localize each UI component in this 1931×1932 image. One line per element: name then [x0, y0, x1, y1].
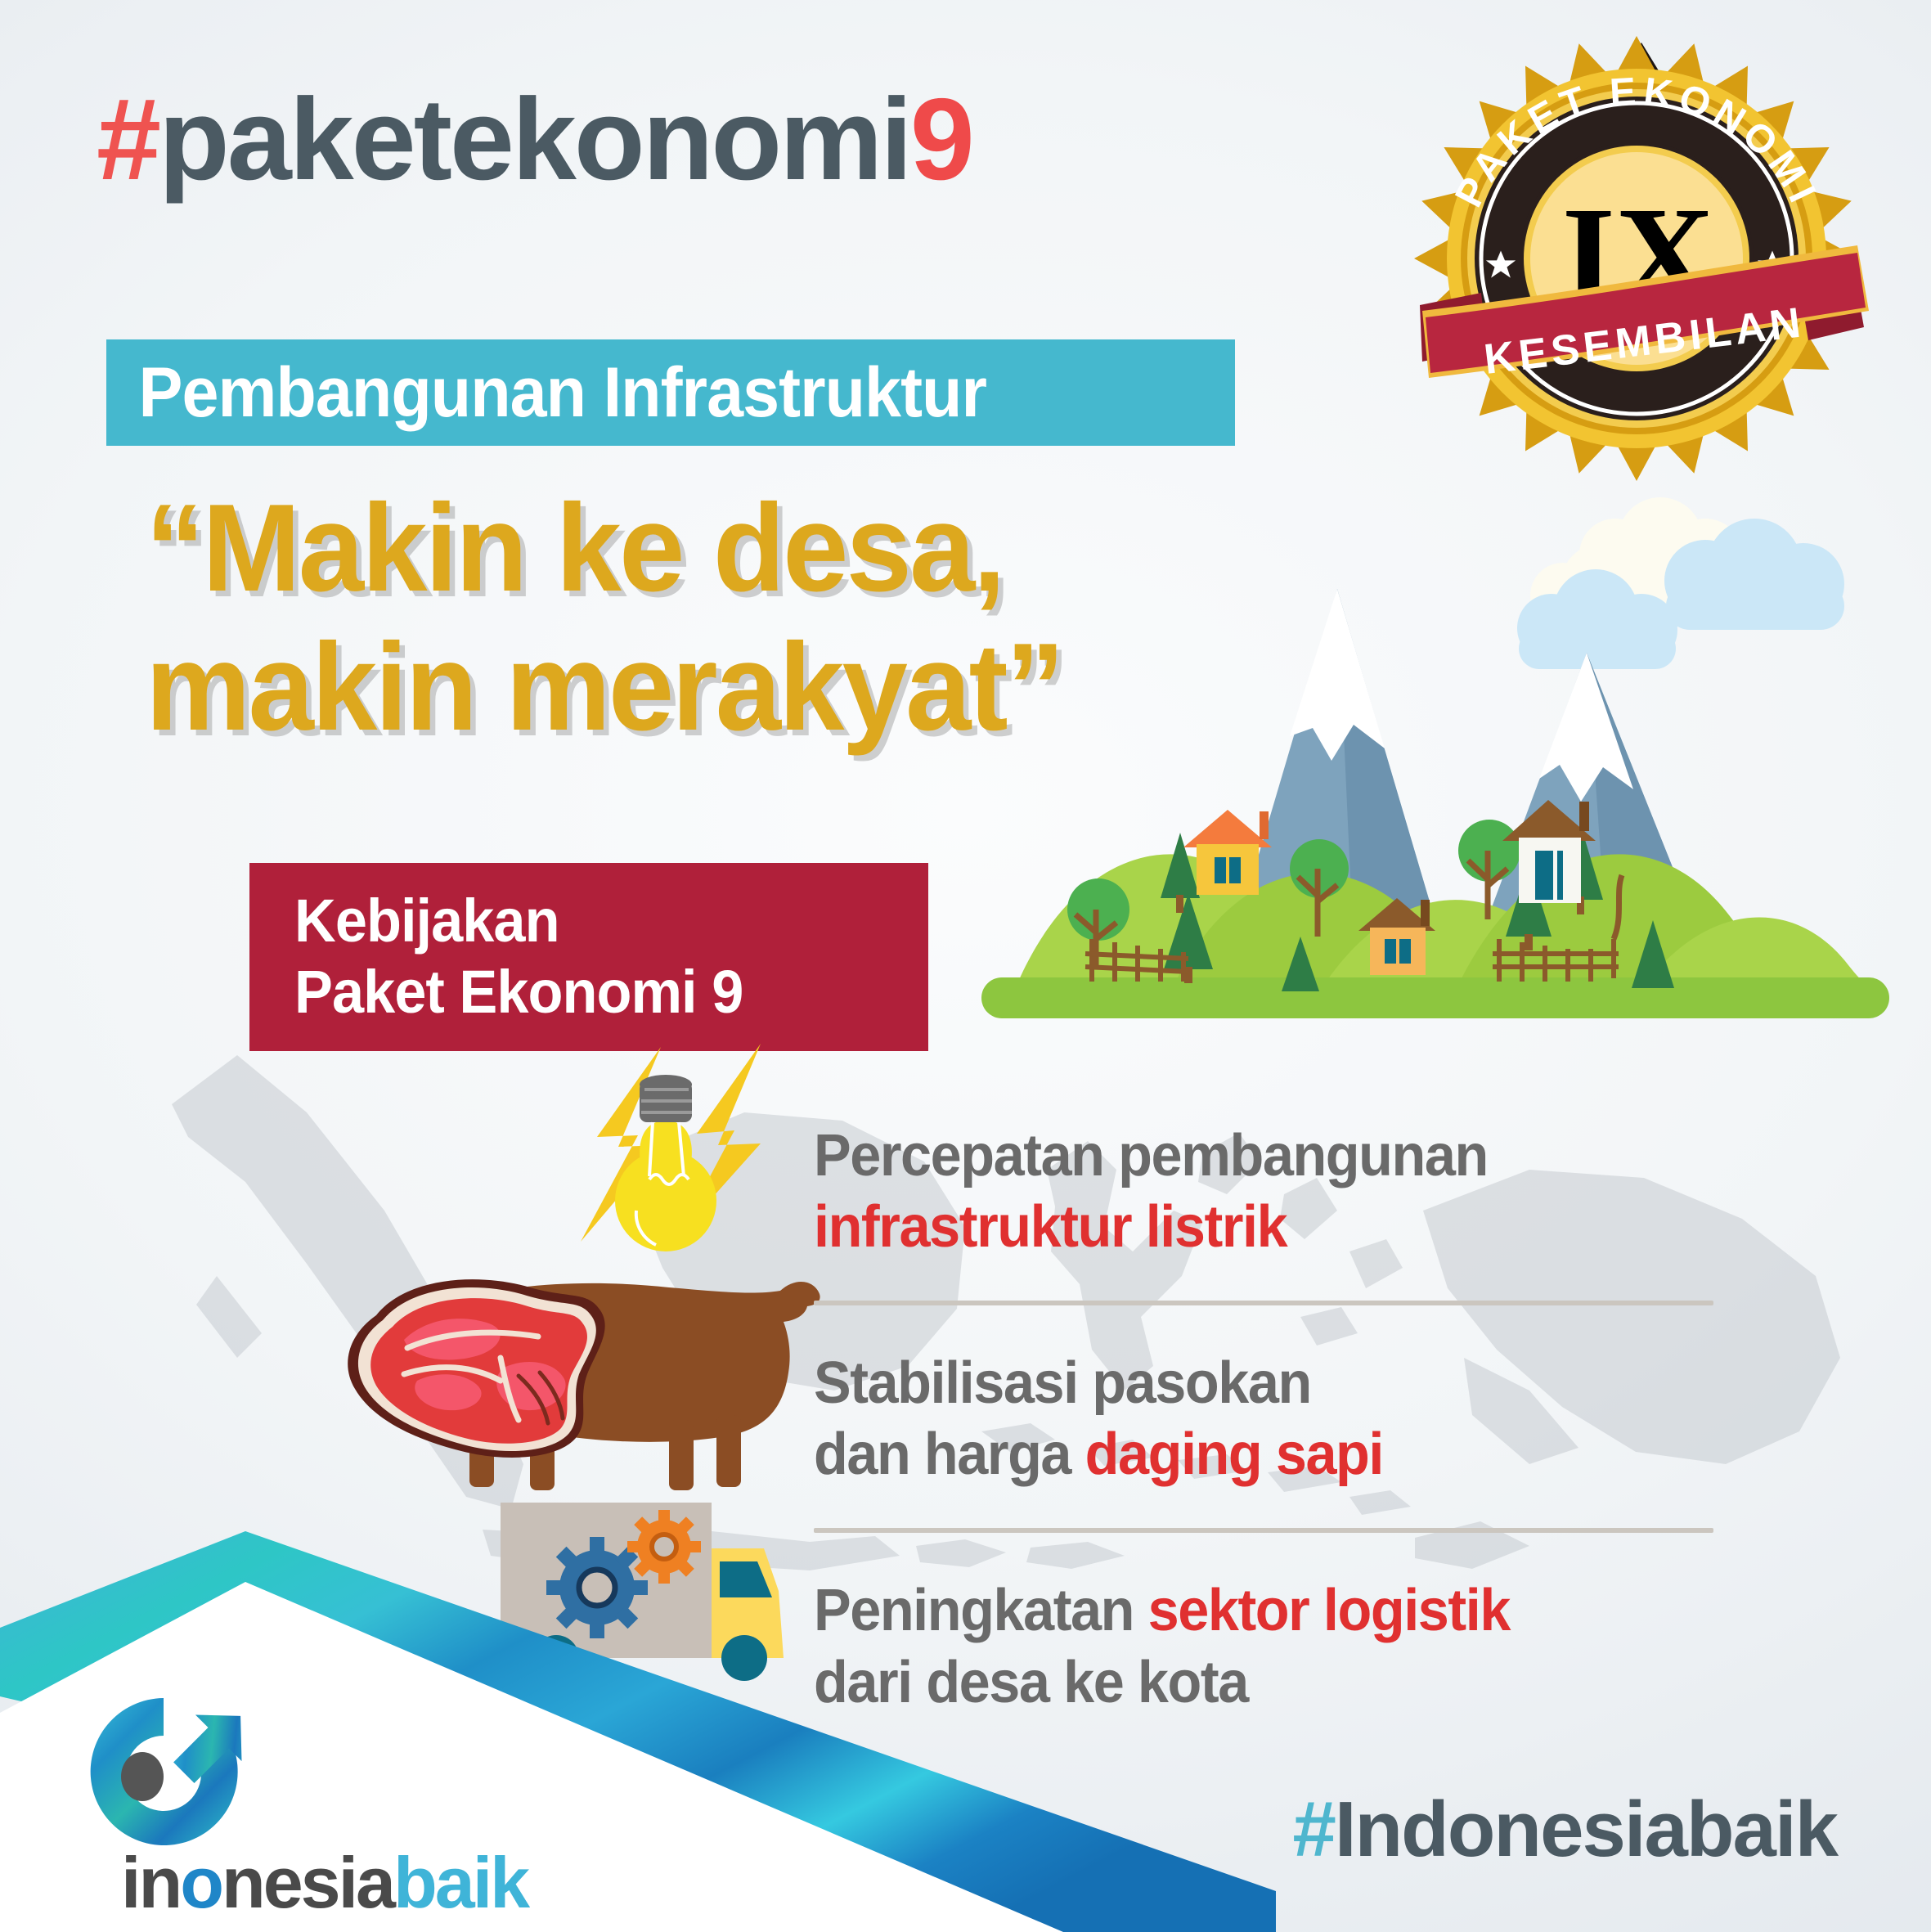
paket-ekonomi-badge: PAKET EKONOMI IX KESEMBILAN: [1383, 23, 1890, 485]
wordmark-part-in: in: [121, 1842, 180, 1923]
hashtag-symbol: #: [97, 74, 159, 204]
quote-line-2: makin merakyat”: [146, 618, 1062, 757]
banner-pembangunan-infrastruktur: Pembangunan Infrastruktur: [106, 339, 1235, 446]
village-mountain-illustration: [969, 491, 1902, 1035]
footer-hashtag-word: Indonesiabaik: [1335, 1786, 1837, 1873]
quote-line-1: “Makin ke desa,: [146, 479, 1062, 618]
bullet-item-listrik: Percepatan pembangunan infrastruktur lis…: [814, 1121, 1730, 1263]
footer-hashtag-symbol: #: [1292, 1786, 1334, 1873]
bullet-item-daging-sapi: Stabilisasi pasokan dan harga daging sap…: [814, 1348, 1730, 1490]
bullet-2-line-2-prefix: dan harga: [814, 1422, 1085, 1487]
indonesiabaik-logo-mark: [72, 1687, 260, 1862]
page-title-hashtag: #paketekonomi9: [97, 82, 972, 198]
hashtag-word: paketekonomi: [159, 74, 910, 204]
logo-dot: [121, 1752, 164, 1801]
bullet-1-line-1: Percepatan pembangunan: [814, 1121, 1684, 1192]
bullet-1-line-2-highlight: infrastruktur listrik: [814, 1194, 1287, 1260]
infographic-poster: #paketekonomi9: [0, 0, 1931, 1932]
bullet-2-line-1: Stabilisasi pasokan: [814, 1348, 1684, 1419]
indonesiabaik-wordmark: inonesiabaik: [121, 1847, 528, 1919]
bullet-2-line-2-highlight: daging sapi: [1085, 1422, 1383, 1487]
headline-quote: “Makin ke desa, makin merakyat”: [146, 479, 1062, 757]
wordmark-part-o: o: [180, 1842, 222, 1923]
banner-label: Pembangunan Infrastruktur: [106, 353, 986, 434]
hashtag-number: 9: [910, 74, 972, 204]
house-icon-yellow: [1183, 810, 1272, 895]
ground-base: [981, 977, 1889, 1018]
wordmark-part-baik: baik: [393, 1842, 528, 1923]
policy-box: Kebijakan Paket Ekonomi 9: [249, 863, 928, 1051]
footer-hashtag: #Indonesiabaik: [1292, 1785, 1837, 1875]
wordmark-part-nesia: nesia: [222, 1842, 393, 1923]
steak-icon: [348, 1279, 604, 1458]
policy-line-2: Paket Ekonomi 9: [294, 957, 896, 1028]
policy-line-1: Kebijakan: [294, 886, 896, 957]
